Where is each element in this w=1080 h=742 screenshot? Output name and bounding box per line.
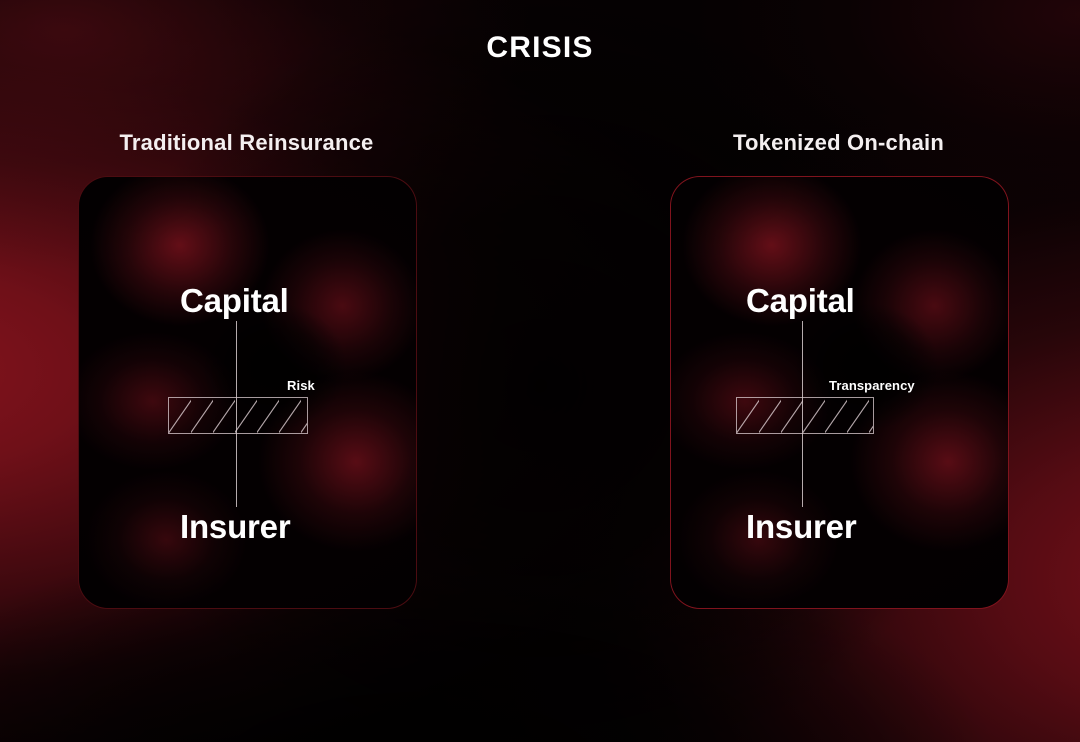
page-title: CRISIS: [0, 30, 1080, 66]
node-label-capital: Capital: [180, 281, 289, 321]
diagonal-hatch-pattern-icon: [169, 398, 308, 434]
node-label-insurer: Insurer: [180, 507, 290, 547]
diagram-tokenized: Capital Transparency Insurer: [671, 177, 1008, 608]
card-traditional-reinsurance[interactable]: Capital Risk Insurer: [78, 176, 417, 609]
diagonal-hatch-pattern-icon: [737, 398, 874, 434]
column-heading-traditional: Traditional Reinsurance: [78, 128, 415, 158]
slide-canvas: CRISIS Traditional Reinsurance Tokenized…: [0, 0, 1080, 742]
edge-label-risk: Risk: [287, 378, 315, 394]
node-label-capital: Capital: [746, 281, 855, 321]
column-heading-tokenized: Tokenized On-chain: [670, 128, 1007, 158]
node-label-insurer: Insurer: [746, 507, 856, 547]
diagram-traditional: Capital Risk Insurer: [79, 177, 416, 608]
card-tokenized-onchain[interactable]: Capital Transparency Insurer: [670, 176, 1009, 609]
hatched-transparency-box: [736, 397, 874, 434]
edge-label-transparency: Transparency: [829, 378, 915, 394]
hatched-risk-box: [168, 397, 308, 434]
